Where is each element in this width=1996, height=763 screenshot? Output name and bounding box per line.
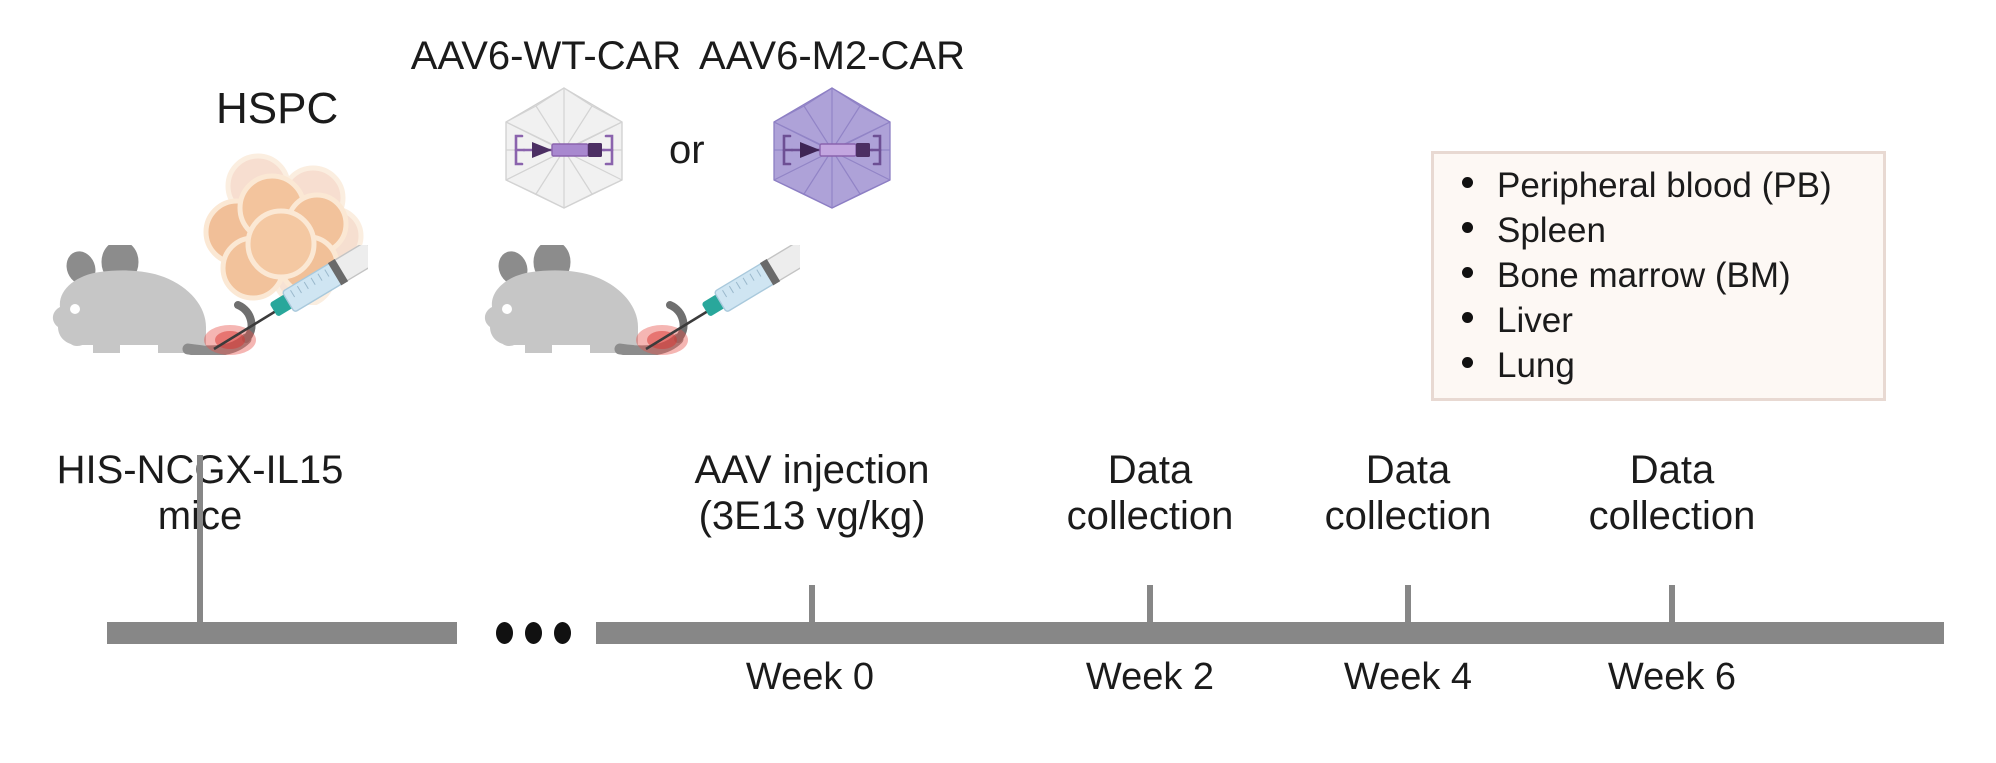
- list-item: Lung: [1462, 346, 1832, 391]
- aav-capsid-wt-icon: [494, 84, 634, 212]
- bullet-point-icon: [1462, 357, 1473, 368]
- event-label-injection-line1: AAV injection: [695, 448, 930, 493]
- list-item: Liver: [1462, 301, 1832, 346]
- bullet-point-icon: [1462, 312, 1473, 323]
- week-label-2: Week 2: [1086, 656, 1214, 699]
- timeline-tick-week-4: [1405, 585, 1411, 622]
- event-label-collection-w4-line1: Data: [1366, 448, 1451, 493]
- capsid-m2-label: AAV6-M2-CAR: [699, 34, 965, 79]
- legend-item-label: Liver: [1497, 301, 1573, 341]
- bullet-point-icon: [1462, 267, 1473, 278]
- timeline-tick-week-6: [1669, 585, 1675, 622]
- timeline-gap-ellipsis-icon: [496, 622, 571, 644]
- legend-item-label: Lung: [1497, 346, 1575, 386]
- capsid-wt-label: AAV6-WT-CAR: [411, 34, 681, 79]
- event-label-collection-w6-line2: collection: [1589, 494, 1756, 539]
- legend-item-label: Spleen: [1497, 211, 1606, 251]
- week-label-4: Week 4: [1344, 656, 1472, 699]
- week-label-6: Week 6: [1608, 656, 1736, 699]
- list-item: Bone marrow (BM): [1462, 256, 1832, 301]
- week-label-0: Week 0: [746, 656, 874, 699]
- event-label-collection-w4-line2: collection: [1325, 494, 1492, 539]
- sample-collection-legend: Peripheral blood (PB) Spleen Bone marrow…: [1431, 151, 1886, 401]
- legend-list: Peripheral blood (PB) Spleen Bone marrow…: [1462, 166, 1832, 391]
- figure-canvas: HSPC: [0, 0, 1996, 763]
- timeline-tick-week-2: [1147, 585, 1153, 622]
- mouse-injection-group-1: [38, 245, 368, 355]
- mouse-injection-group-2: [470, 245, 800, 355]
- legend-item-label: Bone marrow (BM): [1497, 256, 1791, 296]
- event-label-injection-line2: (3E13 vg/kg): [699, 494, 926, 539]
- timeline-tick-week-0: [809, 585, 815, 622]
- bullet-point-icon: [1462, 222, 1473, 233]
- timeline-bar-main: [596, 622, 1944, 644]
- event-label-collection-w2-line2: collection: [1067, 494, 1234, 539]
- list-item: Peripheral blood (PB): [1462, 166, 1832, 211]
- legend-item-label: Peripheral blood (PB): [1497, 166, 1832, 206]
- or-label: or: [669, 128, 705, 173]
- list-item: Spleen: [1462, 211, 1832, 256]
- event-label-collection-w6-line1: Data: [1630, 448, 1715, 493]
- hspc-label: HSPC: [216, 84, 338, 133]
- timeline-bar-pre: [107, 622, 457, 644]
- bullet-point-icon: [1462, 177, 1473, 188]
- aav-capsid-m2-icon: [762, 84, 902, 212]
- event-label-collection-w2-line1: Data: [1108, 448, 1193, 493]
- timeline-tick-mouse-model: [197, 455, 203, 622]
